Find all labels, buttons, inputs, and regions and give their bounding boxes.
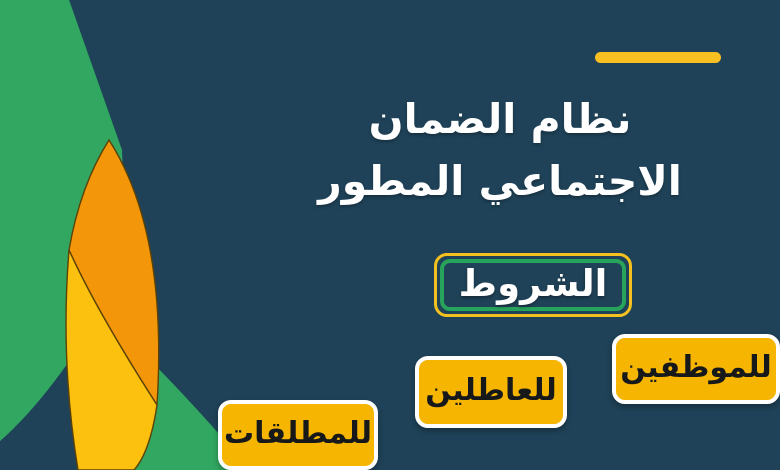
category-button-divorced[interactable]: للمطلقات [218,400,378,470]
page-title-line-1: نظام الضمان [260,88,740,150]
terms-badge-inner-frame: الشروط [440,259,626,311]
category-button-unemployed[interactable]: للعاطلين [415,356,567,428]
yellow-dash-icon [595,52,721,63]
poster-canvas: نظام الضمان الاجتماعي المطور الشروط للمو… [0,0,780,470]
category-button-unemployed-label: للعاطلين [425,376,556,406]
category-button-divorced-label: للمطلقات [224,419,372,449]
orange-leaf-shape [69,140,159,405]
yellow-leaf-shape [66,250,157,470]
category-button-employees[interactable]: للموظفين [612,334,780,404]
page-title-line-2: الاجتماعي المطور [260,150,740,212]
terms-badge-label: الشروط [459,265,608,302]
category-button-employees-label: للموظفين [620,353,772,383]
green-swoosh-shape [0,0,123,470]
page-title: نظام الضمان الاجتماعي المطور [260,88,740,213]
terms-badge[interactable]: الشروط [434,253,632,317]
